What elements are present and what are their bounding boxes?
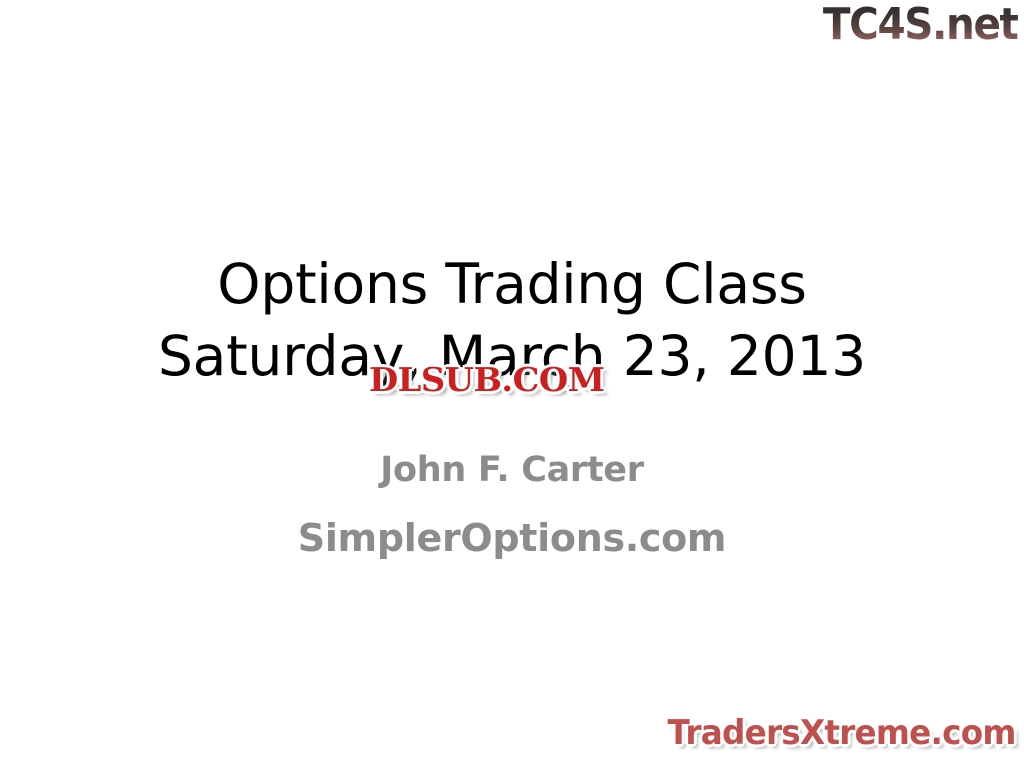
tc4s-brand-logo: TC4S.net — [823, 2, 1018, 48]
title-line-1: Options Trading Class — [0, 248, 1024, 320]
presenter-website: SimplerOptions.com — [0, 514, 1024, 562]
tradersxtreme-brand-logo: TradersXtreme.com — [668, 714, 1016, 752]
slide-subtitle: John F. Carter SimplerOptions.com — [0, 448, 1024, 562]
presenter-name: John F. Carter — [0, 448, 1024, 492]
presentation-slide: TC4S.net Options Trading Class Saturday,… — [0, 0, 1024, 768]
dlsub-watermark: DLSUB.COM — [369, 361, 604, 399]
